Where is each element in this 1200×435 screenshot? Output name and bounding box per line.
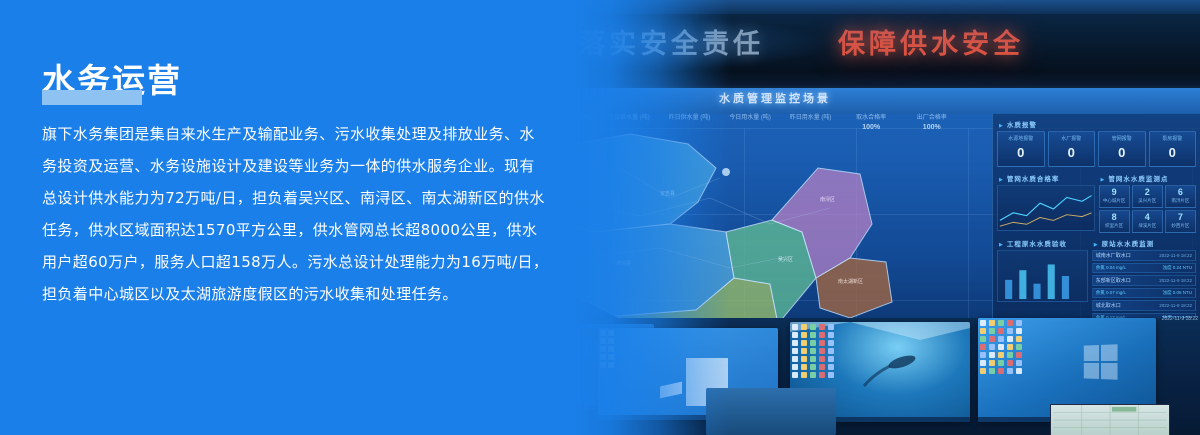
description-line: 担负着中心城区以及太湖旅游度假区的污水收集和处理任务。 <box>42 278 572 310</box>
description-block: 旗下水务集团是集自来水生产及输配业务、污水收集处理及排放业务、水 务投资及运营、… <box>42 118 572 310</box>
water-operations-banner: 落实安全责任 保障供水安全 水质管理监控场景 今日取水量 (万吨) 今日供水量 … <box>0 0 1200 435</box>
description-line: 旗下水务集团是集自来水生产及输配业务、污水收集处理及排放业务、水 <box>42 118 572 150</box>
text-content: 水务运营 旗下水务集团是集自来水生产及输配业务、污水收集处理及排放业务、水 务投… <box>0 0 620 435</box>
description-line: 总设计供水能力为72万吨/日，担负着吴兴区、南浔区、南太湖新区的供水 <box>42 182 572 214</box>
description-line: 务投资及运营、水务设施设计及建设等业务为一体的供水服务企业。现有 <box>42 150 572 182</box>
description-line: 用户超60万户，服务人口超158万人。污水总设计处理能力为16万吨/日， <box>42 246 572 278</box>
description-line: 任务，供水区域面积达1570平方公里，供水管网总长超8000公里，供水 <box>42 214 572 246</box>
title-underline-rule <box>42 90 142 105</box>
